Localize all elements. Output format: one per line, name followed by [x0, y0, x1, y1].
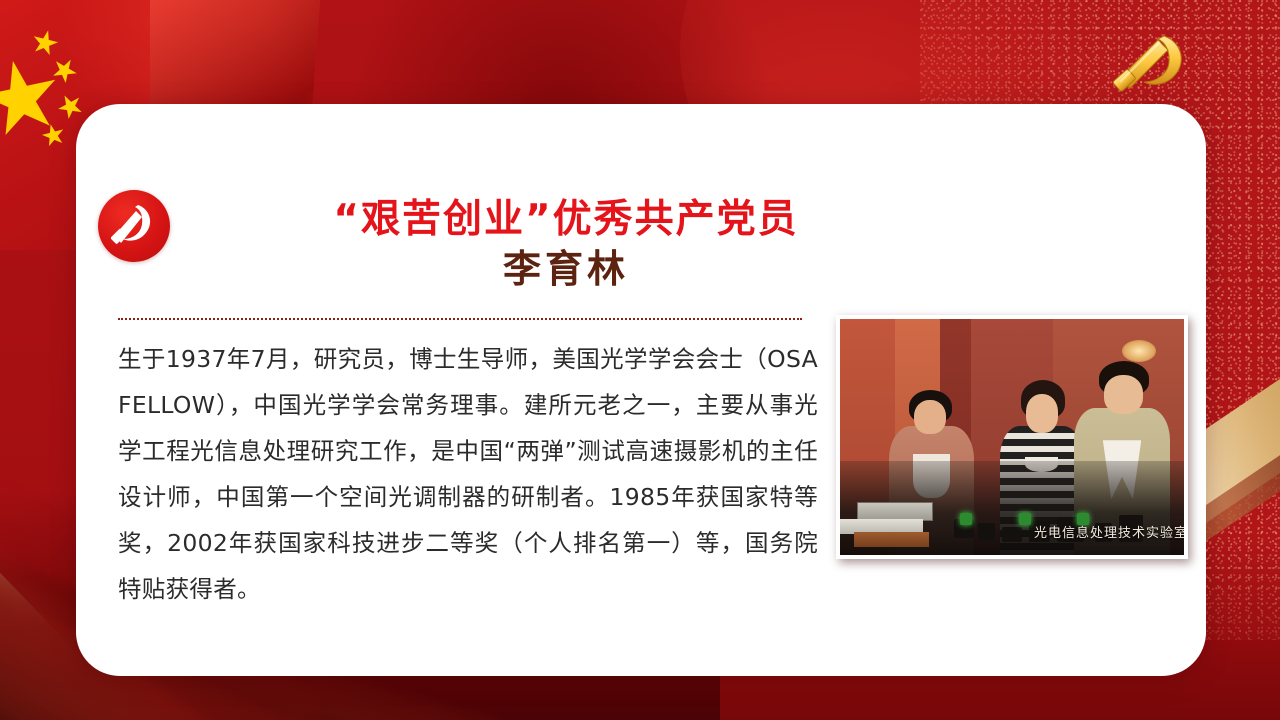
photo-optic-mount-3: [1002, 527, 1023, 542]
laboratory-group-photo: 光电信息处理技术实验室: [836, 315, 1188, 559]
photo-caption: 光电信息处理技术实验室: [1034, 522, 1184, 541]
flag-star-small-3: [53, 89, 88, 124]
page-title: “艰苦创业”优秀共产党员: [196, 198, 936, 243]
title-block: “艰苦创业”优秀共产党员 李育林: [196, 198, 936, 292]
photo-person-right-head: [1104, 375, 1143, 414]
flag-star-small-1: [29, 27, 61, 59]
photo-person-left-head: [914, 400, 947, 435]
photo-green-optic-2: [1019, 513, 1031, 525]
biography-text: 生于1937年7月，研究员，博士生导师，美国光学学会会士（OSA FELLOW）…: [118, 336, 818, 612]
content-card: “艰苦创业”优秀共产党员 李育林 生于1937年7月，研究员，博士生导师，美国光…: [76, 104, 1206, 676]
photo-image: 光电信息处理技术实验室: [840, 319, 1184, 555]
flag-star-small-4: [38, 120, 70, 152]
photo-green-optic-1: [960, 513, 972, 525]
dotted-divider: [118, 318, 802, 320]
person-name: 李育林: [196, 247, 936, 293]
photo-optic-mount-2: [978, 523, 995, 540]
photo-person-center-head: [1026, 394, 1059, 432]
photo-wooden-box: [854, 532, 930, 547]
hammer-sickle-gold-icon: [1108, 26, 1200, 98]
slide-root: “艰苦创业”优秀共产党员 李育林 生于1937年7月，研究员，博士生导师，美国光…: [0, 0, 1280, 720]
hammer-sickle-badge-icon: [98, 190, 170, 262]
